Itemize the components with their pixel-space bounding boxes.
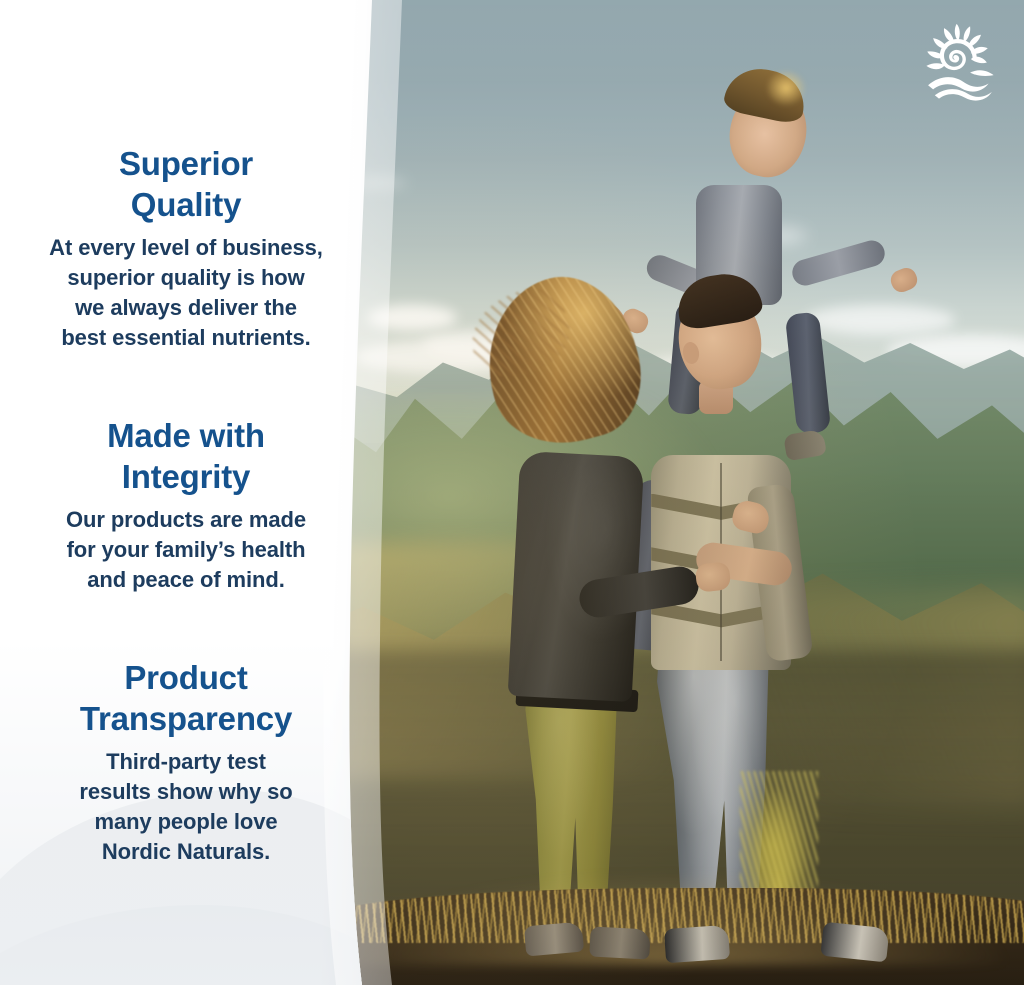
value-block-product-transparency: Product Transparency Third-party test re… [36,657,336,867]
father-left-shoe [664,925,730,963]
value-heading: Product Transparency [36,657,336,739]
photo-inner [340,0,1024,985]
father-right-shoe [821,922,890,963]
sun-waves-logo-icon [918,18,1002,102]
family-lifestyle-photo [340,0,1024,985]
value-body: At every level of business, superior qua… [36,233,336,353]
value-block-superior-quality: Superior Quality At every level of busin… [36,143,336,353]
value-block-made-with-integrity: Made with Integrity Our products are mad… [36,415,336,595]
promotional-banner: Superior Quality At every level of busin… [0,0,1024,985]
child-hair-highlight [764,68,808,108]
mother-left-shoe [523,922,583,957]
value-heading: Superior Quality [36,143,336,225]
value-body: Third-party test results show why so man… [36,747,336,867]
value-body: Our products are made for your family’s … [36,505,336,595]
mother-right-shoe [589,927,650,960]
mother-hand [694,561,731,592]
value-heading: Made with Integrity [36,415,336,497]
value-propositions-list: Superior Quality At every level of busin… [0,0,372,985]
